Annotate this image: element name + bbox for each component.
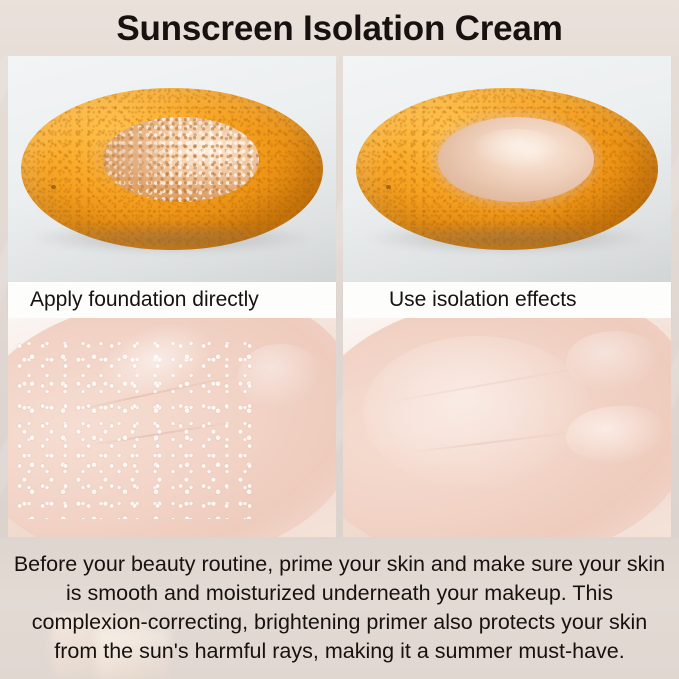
peel-blemish-icon (386, 185, 391, 189)
peel-blemish-icon (51, 185, 56, 189)
comparison-column-right: Use isolation effects (343, 56, 671, 537)
orange-fruit-icon (21, 88, 323, 251)
finger-web-highlight (566, 406, 664, 463)
skin-backdrop (343, 318, 671, 537)
skin-photo-droplets (8, 318, 336, 537)
product-poster: Sunscreen Isolation Cream Apply foundati… (0, 0, 679, 679)
skin-photo-smooth (343, 318, 671, 537)
foundation-patch-smooth (438, 117, 595, 202)
skin-backdrop (8, 318, 336, 537)
caption-left: Apply foundation directly (8, 282, 336, 318)
caption-right-label: Use isolation effects (343, 288, 577, 312)
studio-backdrop (343, 56, 671, 282)
droplet-texture-icon (8, 318, 336, 537)
foundation-patch-uneven (103, 117, 260, 202)
orange-photo-smooth (343, 56, 671, 282)
description-area: Before your beauty routine, prime your s… (0, 537, 679, 679)
comparison-column-left: Apply foundation directly (8, 56, 336, 537)
page-title: Sunscreen Isolation Cream (116, 11, 562, 46)
orange-fruit-icon (356, 88, 658, 251)
orange-photo-uneven (8, 56, 336, 282)
caption-left-label: Apply foundation directly (8, 288, 259, 312)
description-text: Before your beauty routine, prime your s… (12, 550, 667, 666)
smooth-skin-sheen (363, 336, 593, 489)
comparison-grid: Apply foundation directly (8, 56, 671, 537)
title-bar: Sunscreen Isolation Cream (0, 0, 679, 56)
studio-backdrop (8, 56, 336, 282)
caption-right: Use isolation effects (343, 282, 671, 318)
